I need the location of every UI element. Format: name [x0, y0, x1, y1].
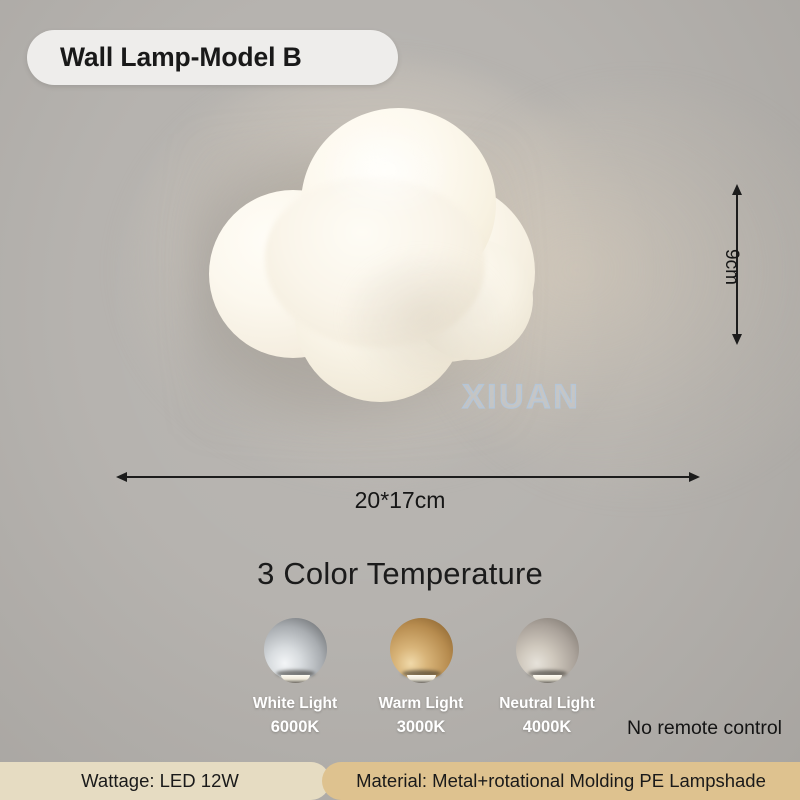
brand-watermark: XIUAN — [462, 378, 580, 417]
height-dimension-label: 9cm — [720, 249, 742, 285]
sphere-bulb-icon — [390, 618, 453, 686]
width-dimension-arrow — [126, 476, 690, 478]
width-dimension-label: 20*17cm — [0, 487, 800, 514]
color-option-kelvin: 6000K — [271, 718, 320, 737]
color-option-label: Warm Light — [379, 695, 464, 713]
lamp-soft-shading — [350, 258, 500, 378]
arrow-up-icon — [732, 184, 742, 195]
product-title-badge: Wall Lamp-Model B — [27, 30, 398, 85]
product-title-text: Wall Lamp-Model B — [60, 42, 302, 73]
arrow-down-icon — [732, 334, 742, 345]
material-spec-text: Material: Metal+rotational Molding PE La… — [356, 770, 766, 792]
material-spec-bar: Material: Metal+rotational Molding PE La… — [322, 762, 800, 800]
sphere-bulb-base-glow — [407, 675, 436, 683]
color-option-kelvin: 3000K — [397, 718, 446, 737]
sphere-bulb-base-glow — [281, 675, 310, 683]
product-image-canvas: Wall Lamp-Model B XIUAN 9cm 20*17cm 3 Co… — [0, 0, 800, 800]
color-option-neutral-light[interactable]: Neutral Light 4000K — [484, 618, 610, 737]
arrow-right-icon — [689, 472, 700, 482]
sphere-bulb-base-glow — [533, 675, 562, 683]
sphere-bulb-icon — [516, 618, 579, 686]
color-option-white-light[interactable]: White Light 6000K — [232, 618, 358, 737]
color-option-label: White Light — [253, 695, 337, 713]
arrow-left-icon — [116, 472, 127, 482]
wattage-spec-text: Wattage: LED 12W — [81, 770, 239, 792]
color-temperature-options: White Light 6000K Warm Light 3000K Neutr… — [232, 618, 610, 737]
color-option-warm-light[interactable]: Warm Light 3000K — [358, 618, 484, 737]
remote-control-note: No remote control — [627, 717, 782, 740]
color-option-kelvin: 4000K — [523, 718, 572, 737]
lamp-highlight — [325, 126, 445, 216]
color-temperature-heading: 3 Color Temperature — [0, 556, 800, 592]
color-option-label: Neutral Light — [499, 695, 595, 713]
cloud-lamp-illustration — [195, 108, 535, 423]
sphere-bulb-icon — [264, 618, 327, 686]
wattage-spec-bar: Wattage: LED 12W — [0, 762, 330, 800]
